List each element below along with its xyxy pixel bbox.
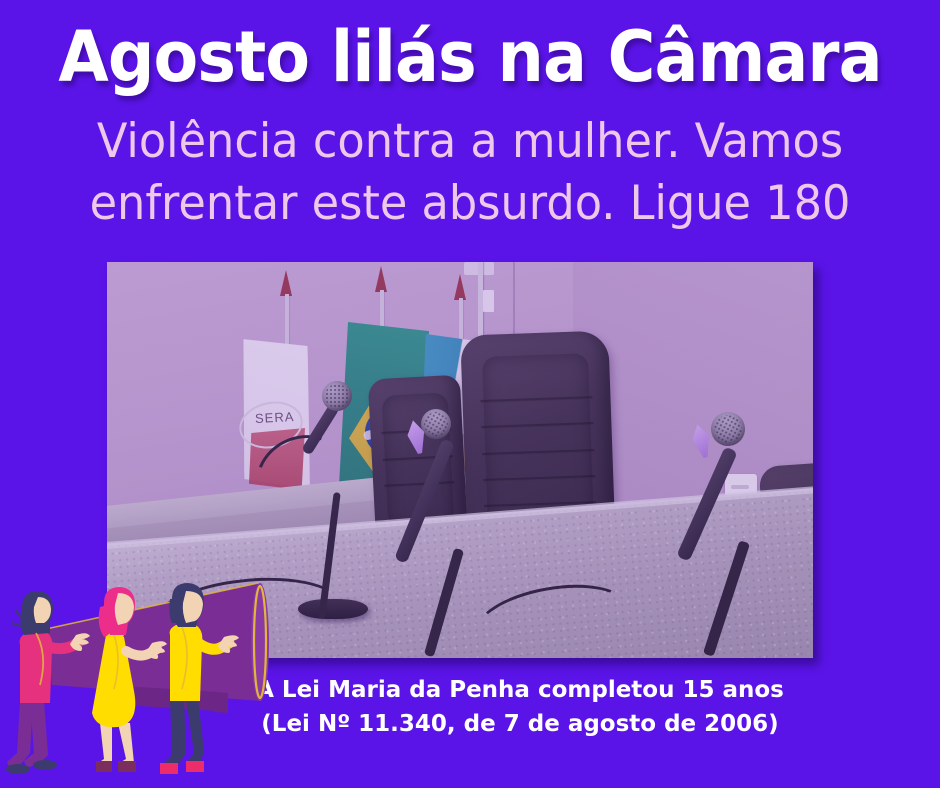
flag-finial-3	[454, 274, 466, 300]
shoe-1a	[6, 764, 30, 774]
state-flag-text: SERA	[255, 409, 295, 426]
megaphone-illustration	[0, 573, 300, 788]
cable-tag	[483, 290, 494, 312]
shoe-1b	[33, 760, 57, 770]
caption-line-1: A Lei Maria da Penha completou 15 anos	[256, 677, 784, 703]
shoe-2a	[96, 761, 112, 772]
subtitle-line-2: enfrentar este absurdo. Ligue 180	[24, 173, 917, 235]
flag-finial-1	[280, 270, 292, 296]
shoe-3a	[160, 763, 178, 774]
page-title: Agosto lilás na Câmara	[33, 16, 907, 98]
subtitle-line-1: Violência contra a mulher. Vamos	[97, 114, 843, 169]
mic-head-left	[322, 381, 352, 411]
flag-finial-2	[375, 266, 387, 292]
subtitle: Violência contra a mulher. Vamos enfrent…	[24, 111, 917, 235]
shoe-3b	[186, 761, 204, 772]
campaign-poster: Agosto lilás na Câmara Violência contra …	[0, 0, 940, 788]
shoe-2b	[118, 761, 136, 772]
